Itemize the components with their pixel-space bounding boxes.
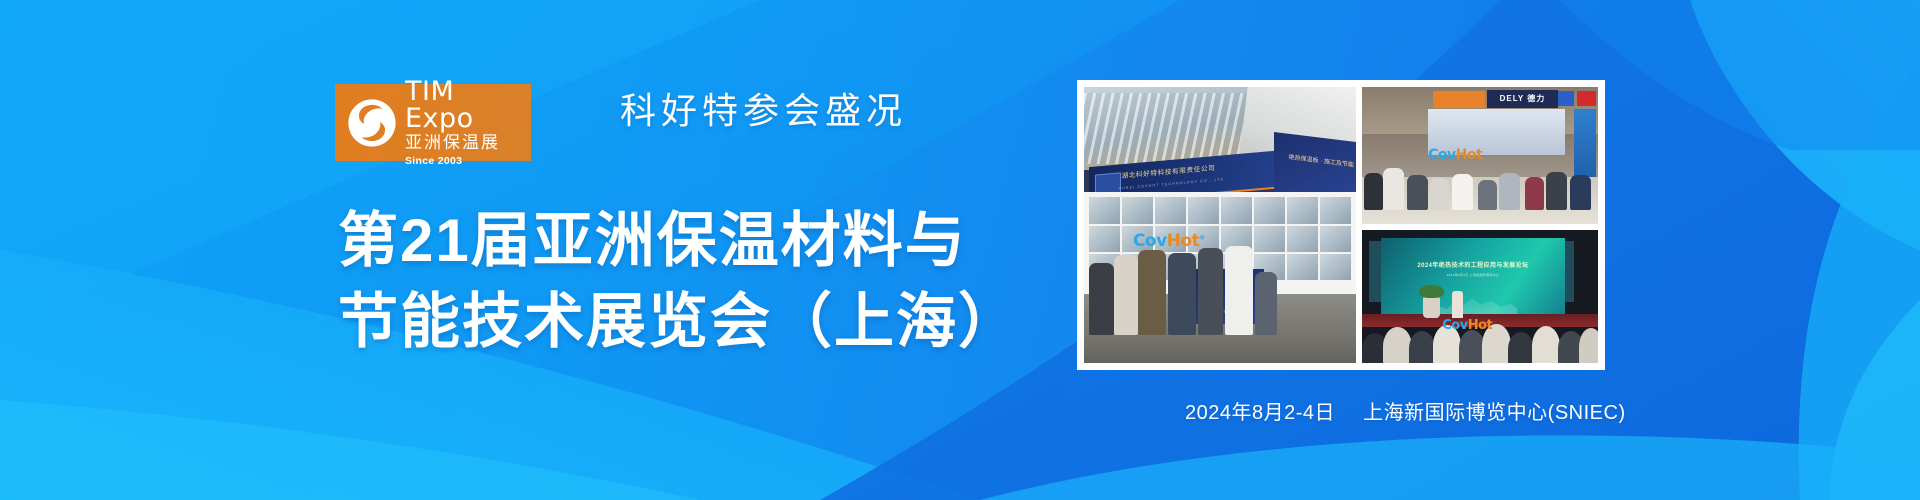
- headline-line-2: 节能技术展览会（上海）: [338, 281, 1020, 362]
- event-date-venue: 2024年8月2-4日 上海新国际博览中心(SNIEC): [1185, 396, 1626, 425]
- forum-screen-subtitle: 2024年8月3日 上海新国际博览中心: [1396, 273, 1551, 277]
- booth-photo[interactable]: 湖北科好特科技有限责任公司 HUBEI COVHOT TECHNOLOGY CO…: [1084, 87, 1356, 363]
- banner-subtitle: 科好特参会盛况: [620, 82, 907, 134]
- collage-right-column: DELY 德力 CovHot: [1362, 87, 1598, 363]
- booth-company-name: 湖北科好特科技有限责任公司: [1121, 163, 1215, 181]
- logo-title: TIM Expo: [405, 78, 531, 132]
- booth-side-banner-text: 绝热保温板 · 施工及节能: [1289, 152, 1354, 169]
- tim-expo-logo[interactable]: TIM Expo 亚洲保温展 Since 2003: [335, 84, 531, 161]
- page-title: 第21届亚洲保温材料与 节能技术展览会（上海）: [338, 200, 1020, 362]
- logo-text-block: TIM Expo 亚洲保温展 Since 2003: [405, 78, 531, 167]
- red-banner: [1577, 91, 1596, 106]
- booth-visitors: [1084, 214, 1356, 335]
- crowd-people: [1362, 150, 1598, 210]
- forum-screen-title: 2024年绝热技术的工程应用与发展论坛: [1396, 260, 1551, 269]
- covhot-suffix: Hot: [1468, 318, 1493, 333]
- event-venue: 上海新国际博览中心(SNIEC): [1363, 402, 1625, 424]
- photo-collage: 湖北科好特科技有限责任公司 HUBEI COVHOT TECHNOLOGY CO…: [1077, 80, 1605, 370]
- dely-booth-sign: DELY 德力: [1487, 90, 1558, 108]
- collage-left-column: 湖北科好特科技有限责任公司 HUBEI COVHOT TECHNOLOGY CO…: [1084, 87, 1356, 363]
- forum-photo[interactable]: 2024年绝热技术的工程应用与发展论坛 2024年8月3日 上海新国际博览中心 …: [1362, 230, 1598, 363]
- expo-banner: TIM Expo 亚洲保温展 Since 2003 科好特参会盛况 第21届亚洲…: [0, 0, 1920, 500]
- covhot-prefix: Cov: [1442, 318, 1467, 333]
- orange-booth-sign: [1433, 91, 1485, 107]
- swirl-leaf-icon: [345, 96, 399, 150]
- covhot-watermark: CovHot: [1442, 318, 1492, 333]
- blue-banner: [1558, 91, 1575, 106]
- crowd-photo[interactable]: DELY 德力 CovHot: [1362, 87, 1598, 224]
- headline-line-1: 第21届亚洲保温材料与: [338, 200, 1020, 281]
- event-date: 2024年8月2-4日: [1185, 402, 1335, 424]
- logo-chinese-name: 亚洲保温展: [405, 134, 531, 151]
- logo-since: Since 2003: [405, 156, 531, 167]
- forum-projection-screen: 2024年绝热技术的工程应用与发展论坛 2024年8月3日 上海新国际博览中心: [1381, 238, 1565, 315]
